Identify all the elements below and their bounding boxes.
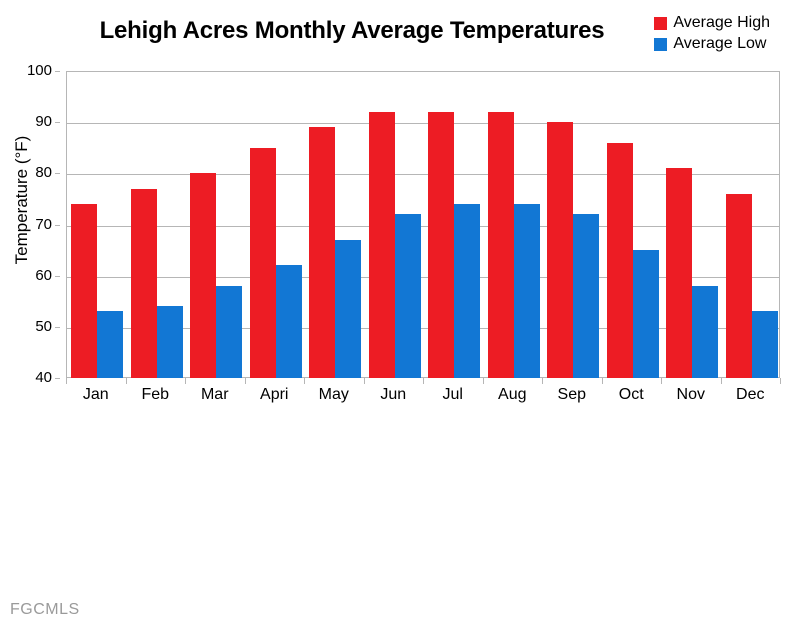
bar-group bbox=[721, 71, 781, 378]
bar-group bbox=[542, 71, 602, 378]
bar-group bbox=[126, 71, 186, 378]
x-tick-mark bbox=[483, 378, 484, 384]
legend-item-average-high: Average High bbox=[654, 14, 770, 32]
x-tick-label: Aug bbox=[483, 386, 543, 404]
legend-label-average-high: Average High bbox=[673, 14, 770, 32]
bar-low[interactable] bbox=[752, 311, 778, 378]
bar-high[interactable] bbox=[547, 122, 573, 378]
x-tick-label: Oct bbox=[602, 386, 662, 404]
x-tick-mark bbox=[364, 378, 365, 384]
watermark: FGCMLS bbox=[10, 601, 80, 619]
bar-high[interactable] bbox=[369, 112, 395, 378]
x-tick-mark bbox=[661, 378, 662, 384]
x-tick-label: May bbox=[304, 386, 364, 404]
bar-high[interactable] bbox=[726, 194, 752, 378]
x-tick-mark bbox=[245, 378, 246, 384]
bar-group bbox=[185, 71, 245, 378]
bar-high[interactable] bbox=[71, 204, 97, 378]
bar-low[interactable] bbox=[454, 204, 480, 378]
y-tick-label: 100 bbox=[18, 63, 52, 78]
bar-group bbox=[602, 71, 662, 378]
y-tick-label: 90 bbox=[18, 114, 52, 129]
x-tick-label: Dec bbox=[721, 386, 781, 404]
x-tick-label: Sep bbox=[542, 386, 602, 404]
x-tick-label: Jan bbox=[66, 386, 126, 404]
x-tick-label: Apri bbox=[245, 386, 305, 404]
blue-square-swatch-icon bbox=[654, 38, 667, 51]
bar-low[interactable] bbox=[692, 286, 718, 378]
chart-legend: Average High Average Low bbox=[654, 14, 770, 53]
bar-high[interactable] bbox=[428, 112, 454, 378]
chart-title: Lehigh Acres Monthly Average Temperature… bbox=[72, 16, 632, 46]
bar-low[interactable] bbox=[395, 214, 421, 378]
bar-high[interactable] bbox=[190, 173, 216, 378]
bar-group bbox=[245, 71, 305, 378]
y-axis-ticks: 100908070605040 bbox=[18, 71, 60, 378]
bar-low[interactable] bbox=[276, 265, 302, 378]
bar-high[interactable] bbox=[309, 127, 335, 378]
bar-low[interactable] bbox=[97, 311, 123, 378]
bar-high[interactable] bbox=[250, 148, 276, 378]
y-tick-mark bbox=[55, 225, 60, 226]
legend-label-average-low: Average Low bbox=[673, 35, 766, 53]
bar-low[interactable] bbox=[157, 306, 183, 378]
y-tick-mark bbox=[55, 122, 60, 123]
x-tick-mark bbox=[721, 378, 722, 384]
x-tick-label: Jul bbox=[423, 386, 483, 404]
y-tick-mark bbox=[55, 173, 60, 174]
y-tick-mark bbox=[55, 276, 60, 277]
x-tick-label: Mar bbox=[185, 386, 245, 404]
bar-high[interactable] bbox=[607, 143, 633, 378]
bars-layer bbox=[66, 71, 780, 378]
bar-low[interactable] bbox=[216, 286, 242, 378]
bar-high[interactable] bbox=[131, 189, 157, 378]
bar-group bbox=[483, 71, 543, 378]
y-tick-label: 50 bbox=[18, 319, 52, 334]
red-square-swatch-icon bbox=[654, 17, 667, 30]
y-tick-mark bbox=[55, 327, 60, 328]
bar-low[interactable] bbox=[633, 250, 659, 378]
bar-low[interactable] bbox=[335, 240, 361, 378]
x-tick-mark bbox=[602, 378, 603, 384]
x-tick-mark bbox=[185, 378, 186, 384]
y-tick-label: 80 bbox=[18, 165, 52, 180]
x-tick-mark bbox=[126, 378, 127, 384]
temperature-bar-chart: Lehigh Acres Monthly Average Temperature… bbox=[0, 0, 788, 627]
y-tick-label: 60 bbox=[18, 268, 52, 283]
y-tick-label: 40 bbox=[18, 370, 52, 385]
x-tick-mark bbox=[780, 378, 781, 384]
x-tick-label: Nov bbox=[661, 386, 721, 404]
bar-low[interactable] bbox=[573, 214, 599, 378]
x-tick-mark bbox=[304, 378, 305, 384]
y-tick-mark bbox=[55, 71, 60, 72]
bar-group bbox=[304, 71, 364, 378]
bar-group bbox=[364, 71, 424, 378]
bar-group bbox=[661, 71, 721, 378]
y-tick-label: 70 bbox=[18, 217, 52, 232]
legend-item-average-low: Average Low bbox=[654, 35, 770, 53]
y-tick-mark bbox=[55, 378, 60, 379]
bar-low[interactable] bbox=[514, 204, 540, 378]
bar-group bbox=[423, 71, 483, 378]
bar-high[interactable] bbox=[666, 168, 692, 378]
x-tick-label: Feb bbox=[126, 386, 186, 404]
x-tick-mark bbox=[542, 378, 543, 384]
x-tick-mark bbox=[423, 378, 424, 384]
x-tick-label: Jun bbox=[364, 386, 424, 404]
x-tick-mark bbox=[66, 378, 67, 384]
bar-high[interactable] bbox=[488, 112, 514, 378]
bar-group bbox=[66, 71, 126, 378]
